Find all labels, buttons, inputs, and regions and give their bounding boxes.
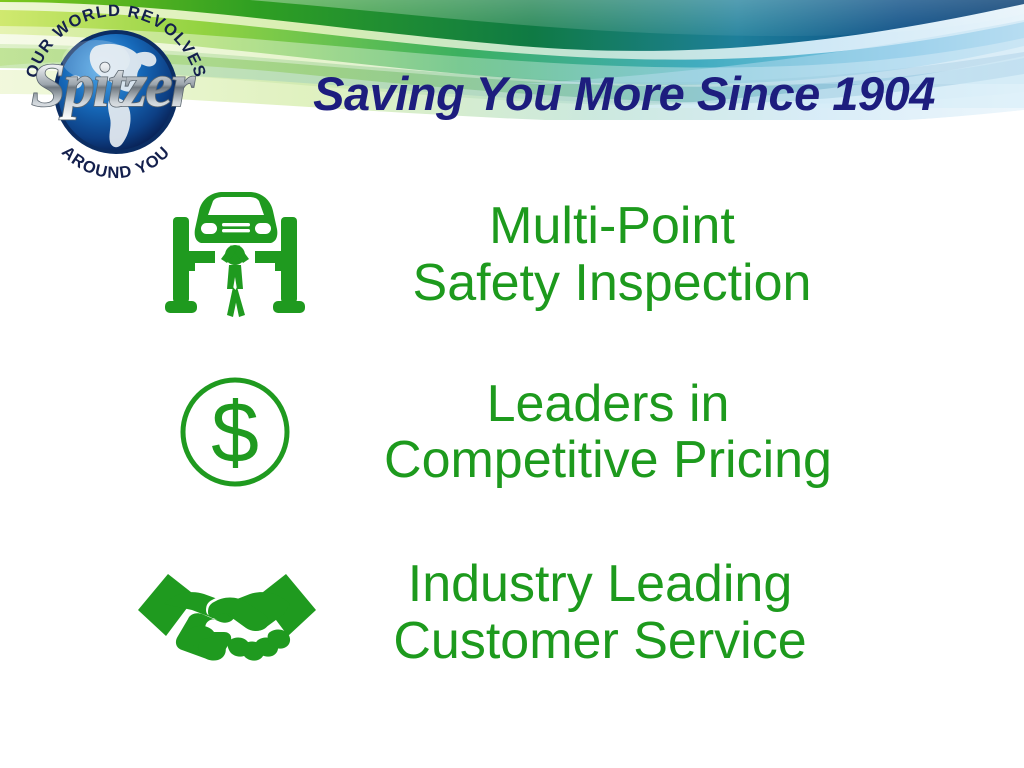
slide-canvas: OUR WORLD REVOLVES AROUND YOU Spitzer Sa… — [0, 0, 1024, 768]
logo-wordmark: Spitzer — [31, 52, 196, 120]
svg-text:$: $ — [211, 385, 259, 481]
feature-row-safety-inspection: Multi-Point Safety Inspection — [150, 182, 890, 327]
feature-row-competitive-pricing: $ Leaders in Competitive Pricing — [150, 362, 890, 502]
feature-label-customer-service: Industry Leading Customer Service — [322, 556, 872, 668]
feature-label-competitive-pricing: Leaders in Competitive Pricing — [320, 376, 890, 488]
feature-row-customer-service: Industry Leading Customer Service — [132, 540, 872, 685]
spitzer-logo: OUR WORLD REVOLVES AROUND YOU Spitzer — [4, 2, 228, 180]
svg-text:Spitzer: Spitzer — [31, 52, 196, 120]
car-on-lift-icon — [150, 189, 320, 321]
page-title: Saving You More Since 1904 — [236, 70, 1012, 117]
handshake-icon — [132, 554, 322, 672]
dollar-circle-icon: $ — [150, 374, 320, 490]
feature-label-safety-inspection: Multi-Point Safety Inspection — [320, 198, 890, 310]
